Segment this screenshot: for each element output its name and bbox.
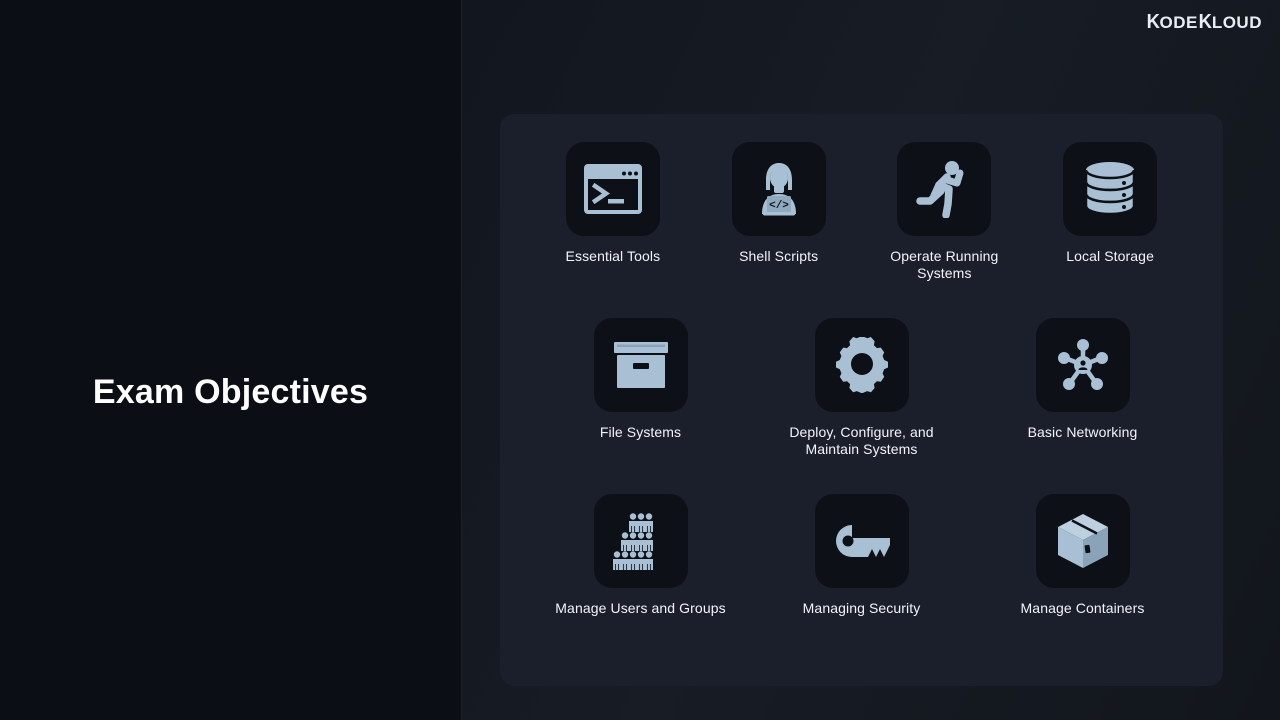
objective-tile: [1036, 318, 1130, 412]
people-group-icon: [610, 512, 672, 570]
logo-k-glyph-1: K: [1146, 11, 1160, 34]
objective-label: Managing Security: [803, 600, 921, 617]
objective-tile: [815, 318, 909, 412]
objectives-panel: Essential Tools </>: [500, 114, 1223, 686]
running-person-icon: [916, 160, 972, 218]
logo-k-glyph-2: K: [1198, 11, 1212, 34]
objectives-grid: Essential Tools </>: [500, 114, 1223, 686]
objective-label: Essential Tools: [566, 248, 661, 265]
slide-root: KODEKLOUD Exam Objectives: [0, 0, 1280, 720]
logo-text-loud: LOUD: [1212, 13, 1262, 33]
objective-local-storage[interactable]: Local Storage: [1027, 142, 1193, 265]
objective-tile: [566, 142, 660, 236]
vertical-divider: [461, 0, 462, 720]
objective-managing-security[interactable]: Managing Security: [751, 494, 972, 617]
objective-label: Manage Containers: [1021, 600, 1145, 617]
objective-label: Local Storage: [1066, 248, 1154, 265]
objective-label: Manage Users and Groups: [555, 600, 725, 617]
gear-icon: [834, 337, 890, 393]
objective-deploy-configure-maintain[interactable]: Deploy, Configure, and Maintain Systems: [751, 318, 972, 458]
package-box-icon: [1056, 512, 1110, 570]
objective-tile: [1063, 142, 1157, 236]
developer-laptop-icon: </>: [750, 160, 808, 218]
objective-basic-networking[interactable]: Basic Networking: [972, 318, 1193, 441]
database-icon: [1084, 161, 1136, 217]
objective-manage-containers[interactable]: Manage Containers: [972, 494, 1193, 617]
objective-tile: [815, 494, 909, 588]
objective-label: Operate Running Systems: [862, 248, 1028, 282]
objectives-row: File Systems Deploy, Configure, and Main…: [530, 316, 1193, 492]
objective-tile: </>: [732, 142, 826, 236]
objective-operate-running-systems[interactable]: Operate Running Systems: [862, 142, 1028, 282]
terminal-icon: [584, 164, 642, 214]
logo-text-ode: ODE: [1160, 13, 1198, 33]
network-hub-icon: [1055, 337, 1111, 393]
objective-file-systems[interactable]: File Systems: [530, 318, 751, 441]
objective-tile: [897, 142, 991, 236]
objective-label: File Systems: [600, 424, 681, 441]
key-icon: [832, 521, 892, 561]
objective-label: Basic Networking: [1028, 424, 1138, 441]
objectives-row: Essential Tools </>: [530, 128, 1193, 316]
page-title: Exam Objectives: [0, 373, 461, 412]
svg-text:</>: </>: [769, 200, 789, 212]
objective-tile: [594, 494, 688, 588]
kodekloud-logo: KODEKLOUD: [1146, 11, 1262, 34]
objective-tile: [1036, 494, 1130, 588]
objective-shell-scripts[interactable]: </> Shell Scripts: [696, 142, 862, 265]
objective-tile: [594, 318, 688, 412]
objective-label: Shell Scripts: [739, 248, 818, 265]
objective-label: Deploy, Configure, and Maintain Systems: [767, 424, 957, 458]
objective-manage-users-groups[interactable]: Manage Users and Groups: [530, 494, 751, 617]
objectives-row: Manage Users and Groups Managing Securit…: [530, 492, 1193, 668]
objective-essential-tools[interactable]: Essential Tools: [530, 142, 696, 265]
archive-box-icon: [613, 341, 669, 389]
